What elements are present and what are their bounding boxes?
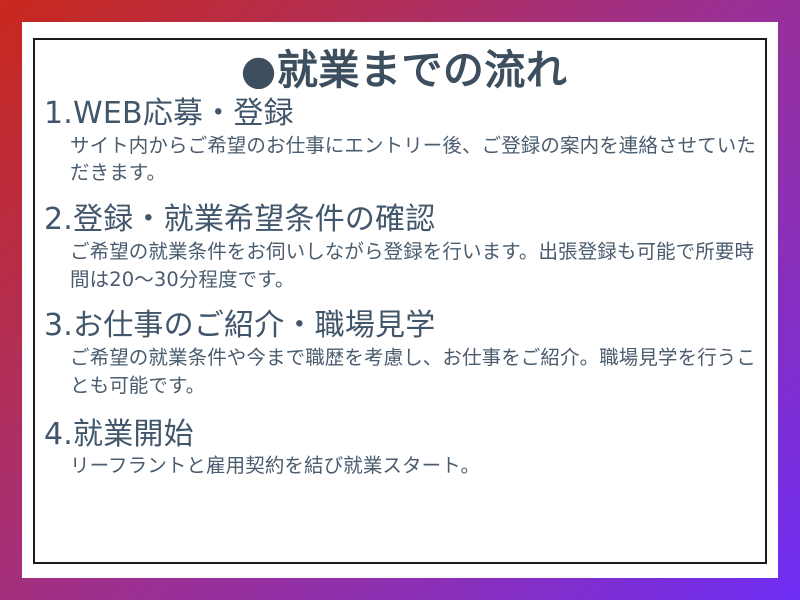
step-heading-4: 4.就業開始 <box>44 418 766 453</box>
step-item-2: 2.登録・就業希望条件の確認 ご希望の就業条件をお伺いしながら登録を行います。出… <box>36 203 772 293</box>
page-title: ●就業までの流れ <box>36 50 772 91</box>
step-body-4: リーフラントと雇用契約を結び就業スタート。 <box>44 452 766 480</box>
step-item-1: 1.WEB応募・登録 サイト内からご希望のお仕事にエントリー後、ご登録の案内を連… <box>36 97 772 187</box>
step-item-4: 4.就業開始 リーフラントと雇用契約を結び就業スタート。 <box>36 418 772 480</box>
step-body-3: ご希望の就業条件や今まで職歴を考慮し、お仕事をご紹介。職場見学を行うことも可能で… <box>44 344 766 399</box>
slide-background: ●就業までの流れ 1.WEB応募・登録 サイト内からご希望のお仕事にエントリー後… <box>0 0 800 600</box>
step-body-2: ご希望の就業条件をお伺いしながら登録を行います。出張登録も可能で所要時間は20〜… <box>44 238 766 293</box>
step-heading-2: 2.登録・就業希望条件の確認 <box>44 203 766 238</box>
white-content-card: ●就業までの流れ 1.WEB応募・登録 サイト内からご希望のお仕事にエントリー後… <box>22 22 778 578</box>
step-body-1: サイト内からご希望のお仕事にエントリー後、ご登録の案内を連絡させていただきます。 <box>44 132 766 187</box>
step-item-3: 3.お仕事のご紹介・職場見学 ご希望の就業条件や今まで職歴を考慮し、お仕事をご紹… <box>36 309 772 399</box>
slide-content: ●就業までの流れ 1.WEB応募・登録 サイト内からご希望のお仕事にエントリー後… <box>36 38 772 572</box>
step-heading-1: 1.WEB応募・登録 <box>44 97 766 132</box>
step-heading-3: 3.お仕事のご紹介・職場見学 <box>44 309 766 344</box>
